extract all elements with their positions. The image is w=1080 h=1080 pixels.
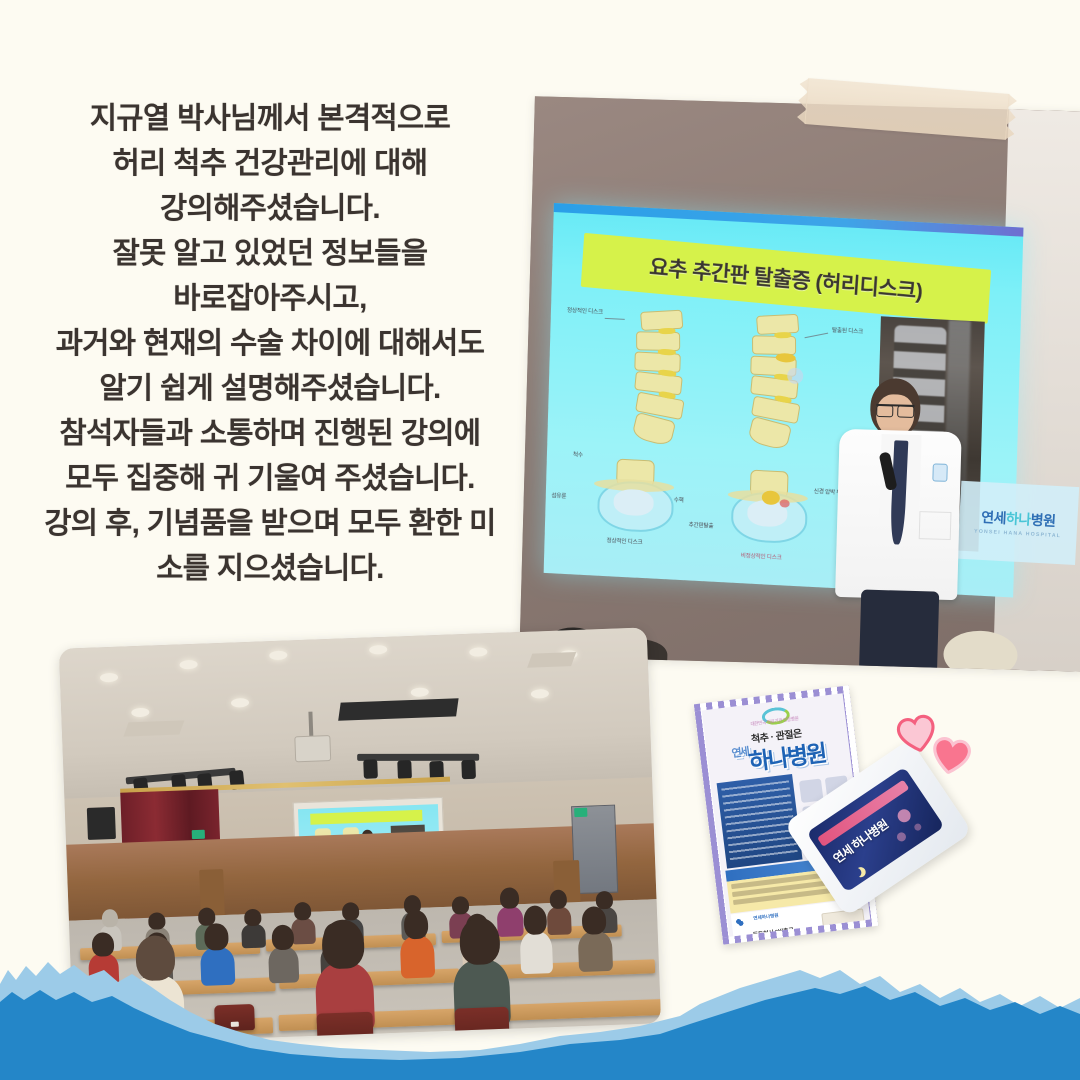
exit-sign-left xyxy=(192,830,205,839)
moon-icon xyxy=(849,866,863,880)
label-caption-normal: 정상적인 디스크 xyxy=(584,537,664,548)
projector xyxy=(294,735,331,762)
brochure-title-hospital: 하나병원 xyxy=(747,740,826,775)
axial-view-normal xyxy=(597,458,671,532)
caption-text: 지규열 박사님께서 본격적으로 허리 척추 건강관리에 대해 강의해주셨습니다.… xyxy=(0,96,540,591)
label-normal-disc: 정상적인 디스크 xyxy=(565,308,605,317)
logo-kr-part3: 병원 xyxy=(1030,512,1056,529)
exit-sign-right xyxy=(574,808,587,817)
bottom-wave-decoration xyxy=(0,940,1080,1080)
card-news-canvas: 지규열 박사님께서 본격적으로 허리 척추 건강관리에 대해 강의해주셨습니다.… xyxy=(0,0,1080,1080)
label-annulus: 섬유륜 xyxy=(546,493,572,501)
presenter-figure xyxy=(819,376,987,671)
photo-lecture: 요추 추간판 탈출증 (허리디스크) 정상적인 디스크 xyxy=(519,96,1080,672)
spine-diagram-herniated xyxy=(729,313,825,454)
glasses-icon xyxy=(876,404,914,417)
logo-kr-part1: 연세 xyxy=(981,509,1007,526)
label-disc-protrusion: 추간판탈출 xyxy=(683,522,719,531)
logo-kr-part2: 하나 xyxy=(1006,510,1032,527)
label-nucleus: 수핵 xyxy=(666,497,692,505)
heart-icon-solid xyxy=(928,735,974,777)
label-spinal-cord: 척수 xyxy=(565,452,591,460)
brochure-emblem-icon xyxy=(731,914,751,930)
heart-decorations xyxy=(893,712,1003,802)
spine-diagram-normal xyxy=(613,308,709,445)
axial-view-herniated xyxy=(731,469,805,543)
label-herniated-disc: 탈출된 디스크 xyxy=(828,328,866,337)
ceiling xyxy=(59,627,652,799)
label-caption-abnormal: 비정상적인 디스크 xyxy=(716,552,806,564)
brochure-title-prefix: 연세 xyxy=(731,746,749,760)
